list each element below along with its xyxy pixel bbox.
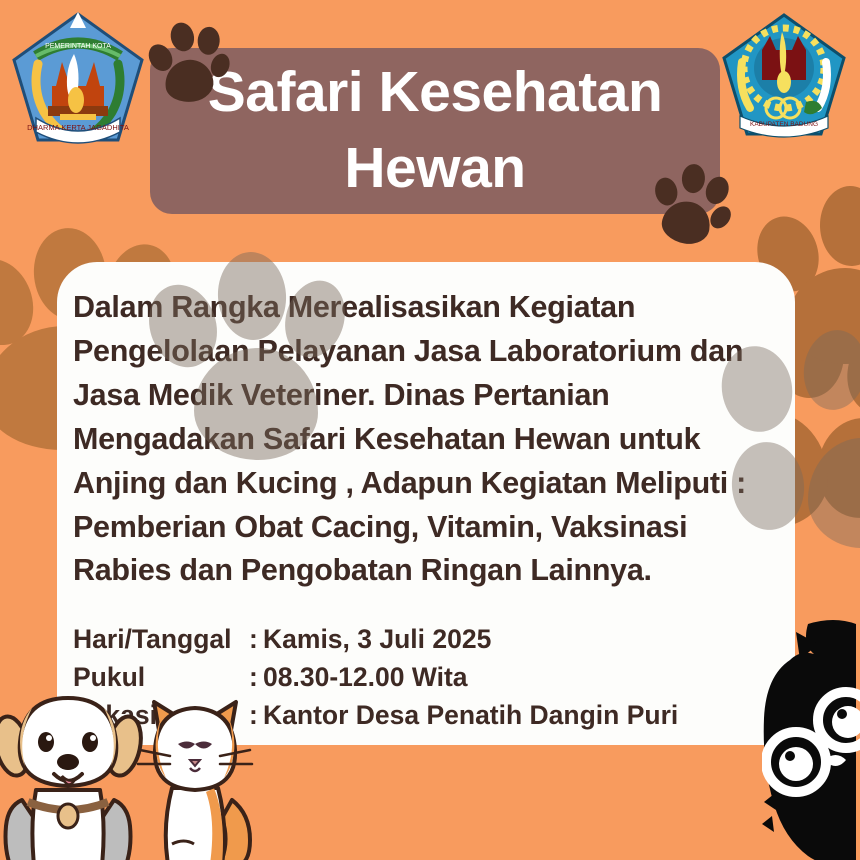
detail-value-time: 08.30-12.00 Wita — [263, 659, 781, 697]
pemerintah-kota-denpasar-emblem-icon: PEMERINTAH KOTA DHARMA KERTA JAGADHITA — [8, 8, 148, 148]
detail-row-date: Hari/Tanggal : Kamis, 3 Juli 2025 — [73, 621, 781, 659]
paw-toe — [702, 173, 733, 207]
paw-sole — [194, 348, 318, 460]
page-title: Safari Kesehatan Hewan — [150, 55, 720, 207]
detail-row-time: Pukul : 08.30-12.00 Wita — [73, 659, 781, 697]
black-cat-illustration-icon — [762, 614, 860, 860]
paw-print-small-banner-right — [645, 154, 736, 248]
paw-toe — [168, 20, 197, 54]
detail-label-date: Hari/Tanggal — [73, 621, 249, 659]
detail-value-date: Kamis, 3 Juli 2025 — [263, 621, 781, 659]
dog-illustration-icon — [0, 690, 144, 860]
paw-toe — [139, 276, 228, 376]
paw-toe — [706, 202, 735, 232]
title-banner: Safari Kesehatan Hewan — [150, 48, 720, 214]
paw-toe — [799, 326, 860, 414]
paw-toe — [197, 26, 221, 55]
cat-illustration-icon — [132, 692, 258, 860]
svg-text:PEMERINTAH KOTA: PEMERINTAH KOTA — [45, 43, 111, 50]
paw-print-small-top-left — [143, 13, 232, 105]
detail-separator: : — [249, 659, 263, 697]
paw-toe — [728, 438, 809, 533]
paw-toe — [681, 163, 706, 194]
paw-toe — [819, 185, 860, 267]
paw-toe — [215, 250, 289, 343]
paw-sole — [808, 438, 860, 548]
detail-value-location: Kantor Desa Penatih Dangin Puri — [263, 697, 781, 735]
paw-print-overlay-right — [722, 330, 860, 540]
detail-separator: : — [249, 621, 263, 659]
poster-canvas: PEMERINTAH KOTA DHARMA KERTA JAGADHITA — [0, 0, 860, 860]
paw-toe — [715, 341, 799, 438]
kabupaten-badung-emblem-icon: KABUPATEN BADUNG — [718, 10, 850, 142]
paw-print-overlay-left — [150, 240, 340, 450]
svg-text:KABUPATEN BADUNG: KABUPATEN BADUNG — [750, 121, 818, 128]
svg-text:DHARMA KERTA JAGADHITA: DHARMA KERTA JAGADHITA — [27, 123, 129, 132]
